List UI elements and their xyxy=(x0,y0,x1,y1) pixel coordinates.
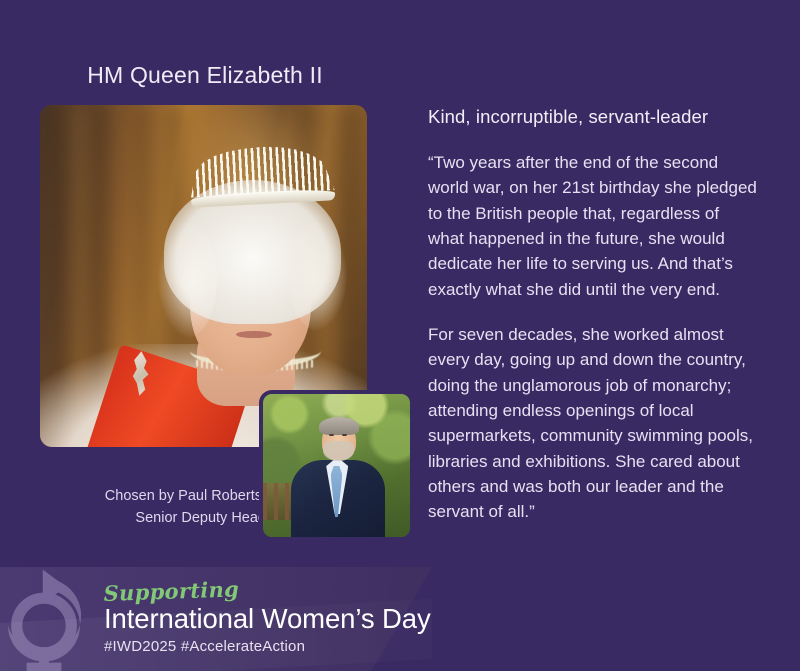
inset-hair xyxy=(319,417,359,436)
portrait-hair-side xyxy=(158,221,217,337)
tribute-headline: Kind, incorruptible, servant-leader xyxy=(428,106,758,128)
footer-hashtags: #IWD2025 #AccelerateAction xyxy=(104,638,404,655)
inset-artwork xyxy=(263,394,410,537)
caption-line-chosen-by: Chosen by Paul Roberts, xyxy=(46,485,266,507)
portrait-caption: Chosen by Paul Roberts, Senior Deputy He… xyxy=(46,485,266,530)
iwd-circular-arrow-female-symbol-icon xyxy=(0,567,106,671)
nominator-inset-photo xyxy=(263,394,410,537)
tribute-text-column: Kind, incorruptible, servant-leader “Two… xyxy=(428,106,758,545)
diamond-tiara xyxy=(189,146,336,208)
page-title: HM Queen Elizabeth II xyxy=(40,62,370,89)
footer-event-title: International Women’s Day xyxy=(104,604,404,635)
caption-line-role: Senior Deputy Head xyxy=(46,507,266,529)
tribute-paragraph: “Two years after the end of the second w… xyxy=(428,150,758,302)
iwd-footer-banner: Supporting International Women’s Day #IW… xyxy=(0,567,432,671)
portrait-hair-side xyxy=(289,221,348,330)
tribute-paragraph: For seven decades, she worked almost eve… xyxy=(428,322,758,525)
footer-text-block: Supporting International Women’s Day #IW… xyxy=(104,581,404,655)
